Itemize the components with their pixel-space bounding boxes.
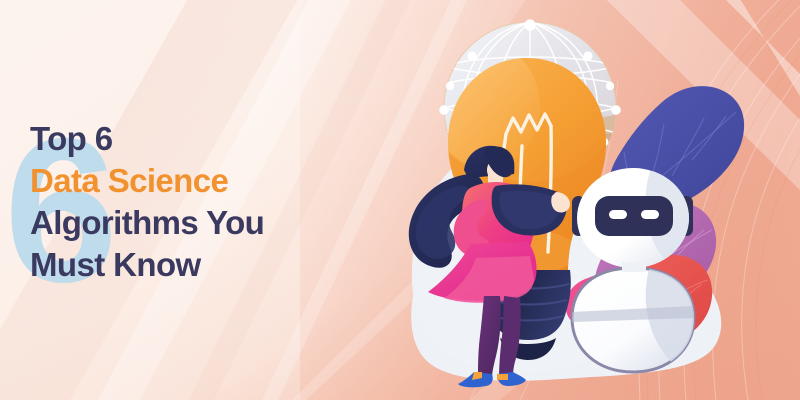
robot-visor: [595, 196, 673, 236]
headline-line-3: Algorithms You: [30, 206, 264, 239]
headline-line-4: Must Know: [30, 248, 264, 281]
headline-line-1: Top 6: [30, 122, 264, 155]
banner-graphic: 6: [0, 0, 800, 400]
headline: Top 6 Data Science Algorithms You Must K…: [30, 122, 264, 281]
headline-line-2: Data Science: [30, 164, 264, 197]
